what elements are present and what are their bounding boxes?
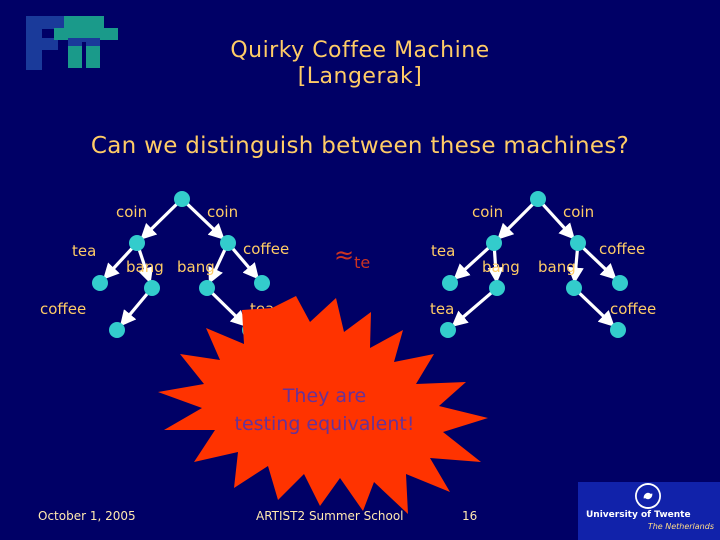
university-of-twente-logo: University of Twente The Netherlands	[578, 482, 720, 540]
tree-node	[612, 275, 628, 291]
tree-edge-label: bang	[482, 258, 520, 276]
tree-edge-label: coffee	[599, 240, 645, 258]
footer-page-number: 16	[462, 509, 477, 523]
starburst-text: They are testing equivalent!	[172, 382, 477, 438]
tree-edge-label: coffee	[243, 240, 289, 258]
tree-node	[199, 280, 215, 296]
footer-event: ARTIST2 Summer School	[256, 509, 404, 523]
university-country: The Netherlands	[648, 522, 714, 531]
tree-edge-label: coin	[116, 203, 147, 221]
tree-edge-label: tea	[431, 242, 455, 260]
tree-node	[486, 235, 502, 251]
tree-edge-label: coin	[472, 203, 503, 221]
tree-node	[570, 235, 586, 251]
tree-edge-label: bang	[177, 258, 215, 276]
footer-date: October 1, 2005	[38, 509, 136, 523]
ut-emblem-icon	[628, 482, 668, 510]
tree-edge	[143, 204, 177, 237]
tree-node	[530, 191, 546, 207]
tree-node	[442, 275, 458, 291]
tree-node	[254, 275, 270, 291]
testing-equivalence-symbol: ≈te	[334, 243, 370, 275]
tree-node	[129, 235, 145, 251]
tree-edge-label: coin	[207, 203, 238, 221]
tree-node	[92, 275, 108, 291]
tree-edge-label: bang	[538, 258, 576, 276]
tree-edge-label: tea	[72, 242, 96, 260]
starburst-text-line2: testing equivalent!	[172, 410, 477, 438]
tree-node	[489, 280, 505, 296]
approx-icon: ≈	[334, 241, 354, 269]
tree-node	[174, 191, 190, 207]
tree-edge-label: bang	[126, 258, 164, 276]
equiv-subscript: te	[354, 253, 370, 272]
tree-node	[109, 322, 125, 338]
starburst-text-line1: They are	[172, 382, 477, 410]
tree-node	[220, 235, 236, 251]
tree-edge	[500, 204, 533, 237]
slide-canvas: Quirky Coffee Machine [Langerak] Can we …	[0, 0, 720, 540]
tree-edge	[123, 293, 148, 323]
tree-edge-label: coffee	[40, 300, 86, 318]
tree-edge-label: coffee	[610, 300, 656, 318]
tree-edge-label: coin	[563, 203, 594, 221]
tree-node	[566, 280, 582, 296]
university-name: University of Twente	[586, 510, 691, 520]
tree-edge	[579, 293, 611, 324]
tree-node	[610, 322, 626, 338]
tree-node	[144, 280, 160, 296]
